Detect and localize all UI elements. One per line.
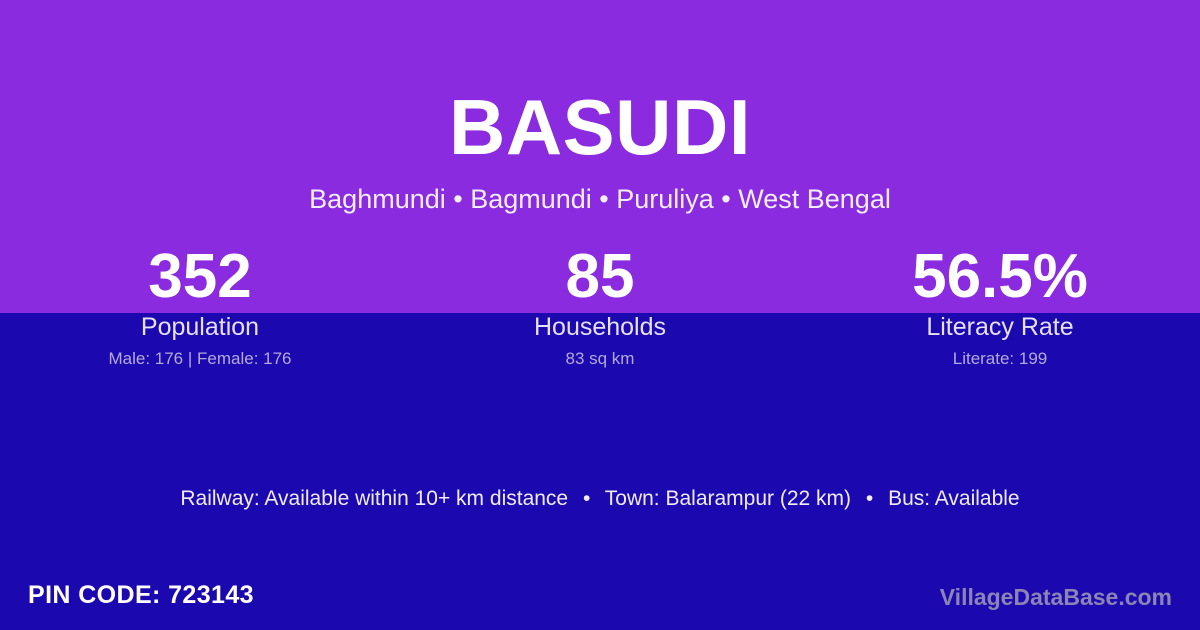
page-title: BASUDI xyxy=(0,82,1200,172)
bullet-separator-icon: • xyxy=(574,484,599,514)
stat-sublabel: Literate: 199 xyxy=(800,348,1200,370)
village-info-card: BASUDI Baghmundi • Bagmundi • Puruliya •… xyxy=(0,0,1200,630)
facility-bus: Bus: Available xyxy=(888,487,1020,510)
stats-row: 352 Population Male: 176 | Female: 176 8… xyxy=(0,245,1200,370)
facilities-row: Railway: Available within 10+ km distanc… xyxy=(0,484,1200,514)
stat-value: 85 xyxy=(400,245,800,309)
stat-literacy-rate: 56.5% Literacy Rate Literate: 199 xyxy=(800,245,1200,370)
breadcrumb: Baghmundi • Bagmundi • Puruliya • West B… xyxy=(0,182,1200,216)
stat-sublabel: Male: 176 | Female: 176 xyxy=(0,348,400,370)
stat-population: 352 Population Male: 176 | Female: 176 xyxy=(0,245,400,370)
stat-value: 56.5% xyxy=(800,245,1200,309)
facility-nearest-town: Town: Balarampur (22 km) xyxy=(605,487,851,510)
facility-railway: Railway: Available within 10+ km distanc… xyxy=(180,487,568,510)
card-footer: PIN CODE: 723143 VillageDataBase.com xyxy=(0,568,1200,630)
stat-label: Population xyxy=(0,312,400,342)
stat-label: Literacy Rate xyxy=(800,312,1200,342)
stat-households: 85 Households 83 sq km xyxy=(400,245,800,370)
stat-value: 352 xyxy=(0,245,400,309)
bullet-separator-icon: • xyxy=(857,484,882,514)
stat-label: Households xyxy=(400,312,800,342)
stat-sublabel: 83 sq km xyxy=(400,348,800,370)
pin-code: PIN CODE: 723143 xyxy=(28,580,254,610)
brand-watermark: VillageDataBase.com xyxy=(940,582,1172,612)
